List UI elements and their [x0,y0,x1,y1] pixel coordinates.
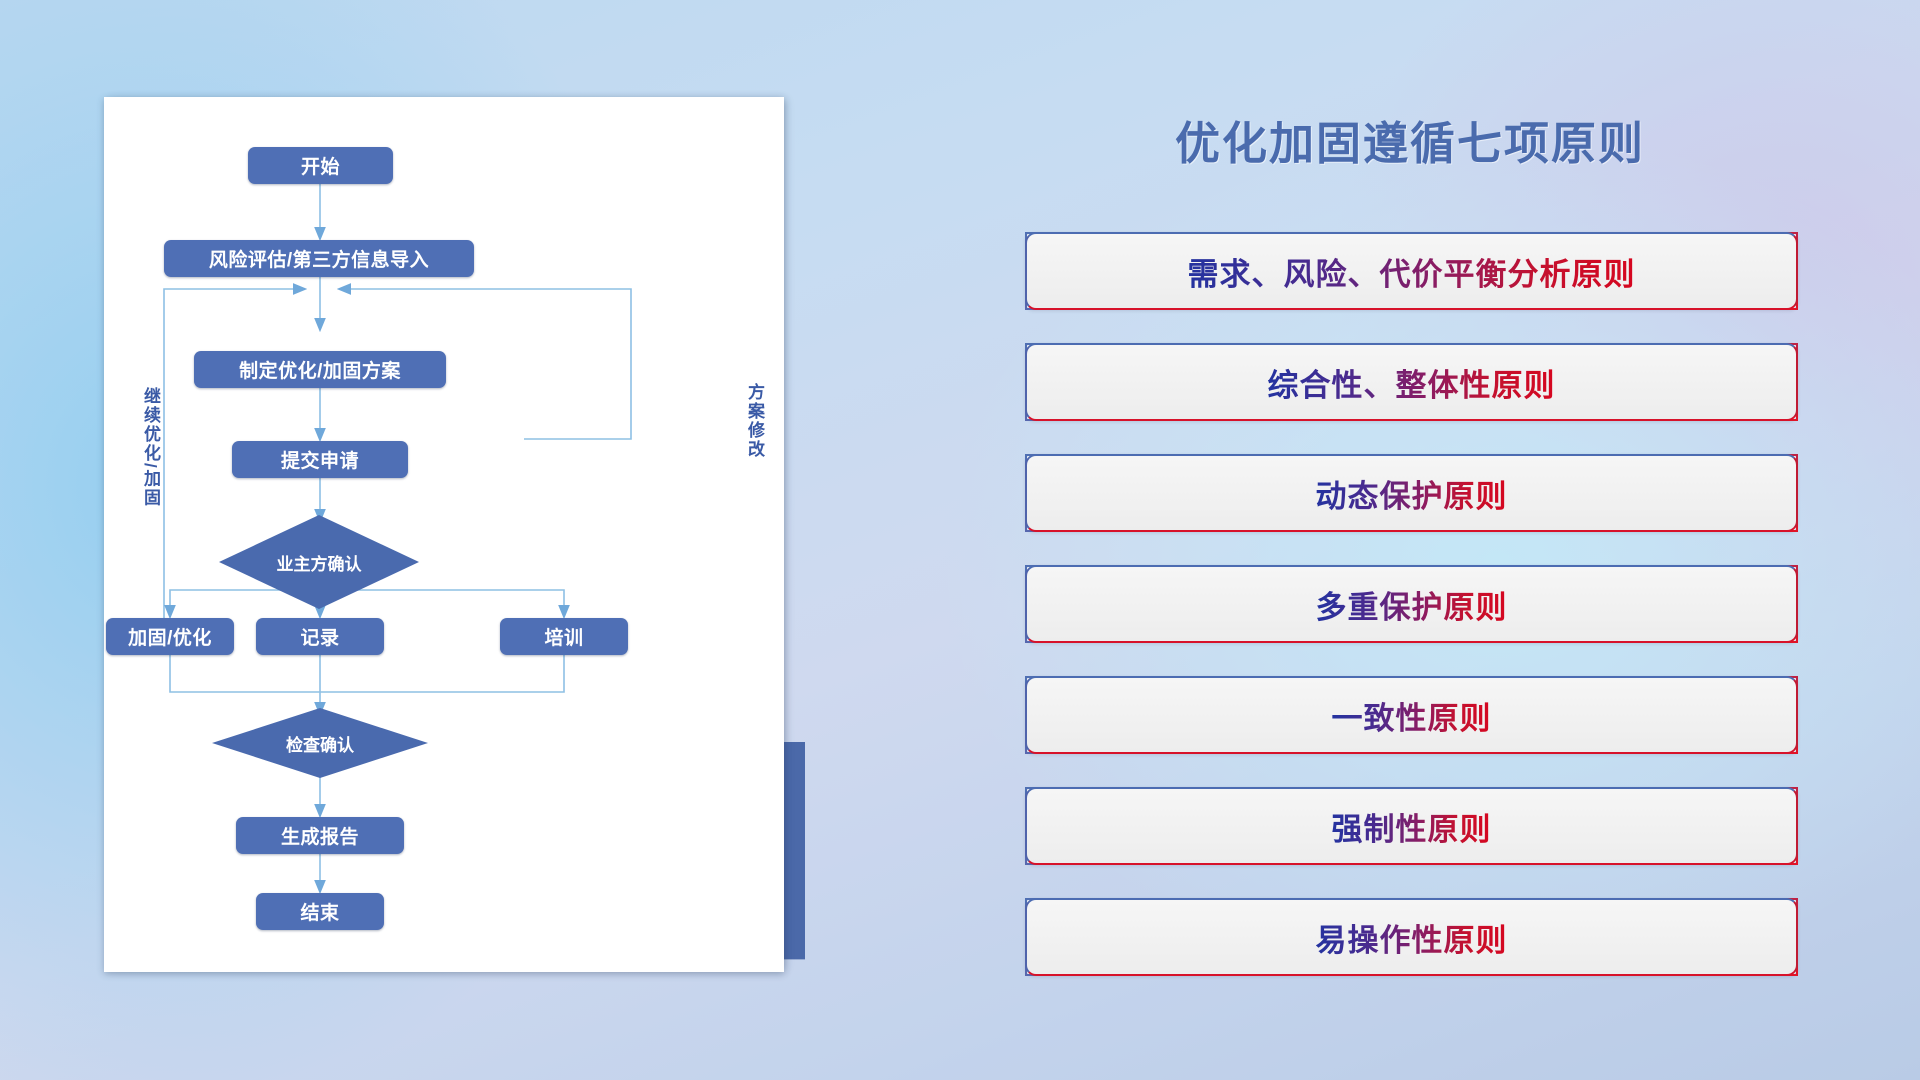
flow-node-generate-report-label: 生成报告 [281,822,359,849]
flowchart-card: 开始 风险评估/第三方信息导入 制定优化/加固方案 提交申请 业主方确认 加固/… [104,97,784,972]
flow-node-harden-label: 加固/优化 [128,623,212,650]
flowchart-panel: 开始 风险评估/第三方信息导入 制定优化/加固方案 提交申请 业主方确认 加固/… [0,0,830,1080]
principle-item[interactable]: 一致性原则 [1025,676,1798,754]
flow-node-submit-application-label: 提交申请 [281,446,359,473]
flow-node-start[interactable]: 开始 [248,147,393,184]
flow-node-end-label: 结束 [300,898,339,925]
flow-node-submit-application[interactable]: 提交申请 [232,441,408,478]
flow-node-risk-assessment-label: 风险评估/第三方信息导入 [209,245,429,272]
principles-panel: 优化加固遵循七项原则 需求、风险、代价平衡分析原则 综合性、整体性原则 动态保护… [1000,0,1920,1080]
flow-node-harden[interactable]: 加固/优化 [106,618,234,655]
principle-item[interactable]: 强制性原则 [1025,787,1798,865]
principle-item-label: 需求、风险、代价平衡分析原则 [1188,249,1636,294]
flowchart-edges [104,97,784,972]
principle-item-label: 综合性、整体性原则 [1268,360,1556,405]
flow-node-owner-confirm-label: 业主方确认 [277,550,362,575]
principle-item-label: 强制性原则 [1332,804,1492,849]
flow-node-risk-assessment[interactable]: 风险评估/第三方信息导入 [164,240,474,277]
flow-node-check-confirm-label: 检查确认 [286,731,354,756]
principle-item-label: 多重保护原则 [1316,582,1508,627]
flow-node-record[interactable]: 记录 [256,618,384,655]
principle-item[interactable]: 动态保护原则 [1025,454,1798,532]
flow-node-start-label: 开始 [301,152,340,179]
flow-node-plan[interactable]: 制定优化/加固方案 [194,351,446,388]
flow-node-check-confirm[interactable]: 检查确认 [212,708,428,778]
principle-item-label: 动态保护原则 [1316,471,1508,516]
flow-node-end[interactable]: 结束 [256,893,384,930]
principle-item[interactable]: 多重保护原则 [1025,565,1798,643]
flow-node-training-label: 培训 [544,623,583,650]
flow-node-owner-confirm[interactable]: 业主方确认 [219,515,419,609]
flow-node-record-label: 记录 [300,623,339,650]
flow-node-plan-label: 制定优化/加固方案 [239,356,401,383]
principle-item[interactable]: 综合性、整体性原则 [1025,343,1798,421]
principle-item[interactable]: 需求、风险、代价平衡分析原则 [1025,232,1798,310]
flow-node-training[interactable]: 培训 [500,618,628,655]
principle-item[interactable]: 易操作性原则 [1025,898,1798,976]
edge-label-continue-optimize: 继续优化/加固 [142,387,159,508]
principle-item-label: 一致性原则 [1332,693,1492,738]
principle-item-label: 易操作性原则 [1316,915,1508,960]
edge-label-plan-revision: 方案修改 [746,383,763,459]
flow-node-generate-report[interactable]: 生成报告 [236,817,404,854]
principles-title: 优化加固遵循七项原则 [1000,107,1820,172]
